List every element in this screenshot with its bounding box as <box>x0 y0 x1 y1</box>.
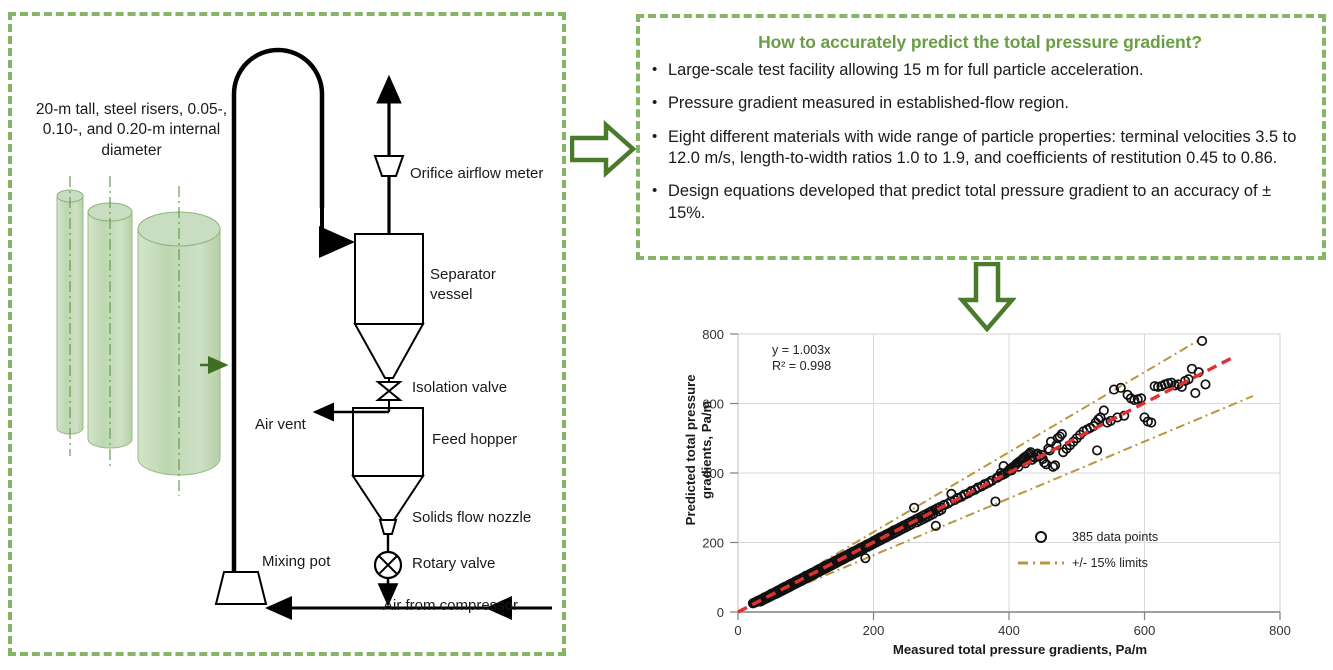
chart-legend: 385 data points +/- 15% limits <box>1010 524 1158 576</box>
arrow-right-icon <box>570 120 636 178</box>
parity-scatter-chart: 800 600 400 200 0 0 200 400 600 800 <box>660 316 1332 668</box>
x-ticks <box>738 612 1280 620</box>
riser-cylinders <box>57 176 220 496</box>
list-item-text: Pressure gradient measured in establishe… <box>668 94 1069 112</box>
x-tick-labels: 0 200 400 600 800 <box>734 623 1290 638</box>
label-feed-hopper: Feed hopper <box>432 431 517 448</box>
slide-root: 20-m tall, steel risers, 0.05-, 0.10-, a… <box>0 0 1333 670</box>
riser-pipe <box>234 50 322 584</box>
r2-text: R² = 0.998 <box>772 358 831 374</box>
bullet-icon: • <box>652 60 657 80</box>
label-orifice-airflow-meter: Orifice airflow meter <box>410 165 543 182</box>
list-item: • Eight different materials with wide ra… <box>648 127 1312 170</box>
label-air-vent: Air vent <box>255 416 306 433</box>
orifice-meter-icon <box>375 156 403 176</box>
list-item: • Pressure gradient measured in establis… <box>648 93 1312 114</box>
separator-inlet-line <box>322 208 351 242</box>
svg-text:600: 600 <box>1134 623 1156 638</box>
panel-title: How to accurately predict the total pres… <box>648 32 1312 53</box>
svg-text:0: 0 <box>717 605 724 620</box>
svg-text:800: 800 <box>1269 623 1291 638</box>
feed-hopper-body <box>353 408 423 476</box>
findings-list: • Large-scale test facility allowing 15 … <box>648 60 1312 224</box>
isolation-valve-icon <box>378 382 400 400</box>
label-air-from-compressor: Air from compressor <box>383 597 518 614</box>
bullet-icon: • <box>652 127 657 147</box>
legend-label: 385 data points <box>1072 530 1158 544</box>
list-item: • Large-scale test facility allowing 15 … <box>648 60 1312 81</box>
separator-vessel-cone <box>355 324 423 378</box>
separator-vessel-body <box>355 234 423 324</box>
equation-text: y = 1.003x <box>772 342 831 358</box>
svg-text:200: 200 <box>863 623 885 638</box>
legend-label: +/- 15% limits <box>1072 556 1148 570</box>
y-axis-label: Predicted total pressure gradients, Pa/m <box>683 345 715 555</box>
solids-flow-nozzle-icon <box>380 520 396 534</box>
list-item-text: Design equations developed that predict … <box>668 182 1271 221</box>
list-item-text: Eight different materials with wide rang… <box>668 128 1296 167</box>
bullet-icon: • <box>652 181 657 201</box>
regression-annotation: y = 1.003x R² = 0.998 <box>772 342 831 374</box>
x-axis-label: Measured total pressure gradients, Pa/m <box>720 642 1320 657</box>
left-diagram-panel: 20-m tall, steel risers, 0.05-, 0.10-, a… <box>8 12 566 656</box>
open-circle-icon <box>1010 529 1072 545</box>
label-mixing-pot: Mixing pot <box>262 553 330 570</box>
svg-text:0: 0 <box>734 623 741 638</box>
mixing-pot-icon <box>216 572 266 604</box>
label-separator-vessel-line1: Separator <box>430 266 496 283</box>
key-findings-panel: How to accurately predict the total pres… <box>636 14 1326 260</box>
y-ticks <box>730 334 738 612</box>
svg-text:800: 800 <box>702 327 724 342</box>
dash-dot-line-icon <box>1010 556 1072 570</box>
list-item: • Design equations developed that predic… <box>648 181 1312 224</box>
legend-entry-limits: +/- 15% limits <box>1010 550 1158 576</box>
label-rotary-valve: Rotary valve <box>412 555 495 572</box>
label-solids-flow-nozzle: Solids flow nozzle <box>412 509 531 526</box>
label-separator-vessel-line2: vessel <box>430 286 473 303</box>
chart-canvas: 800 600 400 200 0 0 200 400 600 800 <box>660 316 1332 668</box>
bullet-icon: • <box>652 93 657 113</box>
list-item-text: Large-scale test facility allowing 15 m … <box>668 61 1144 79</box>
label-isolation-valve: Isolation valve <box>412 379 507 396</box>
legend-entry-data-points: 385 data points <box>1010 524 1158 550</box>
svg-text:400: 400 <box>998 623 1020 638</box>
